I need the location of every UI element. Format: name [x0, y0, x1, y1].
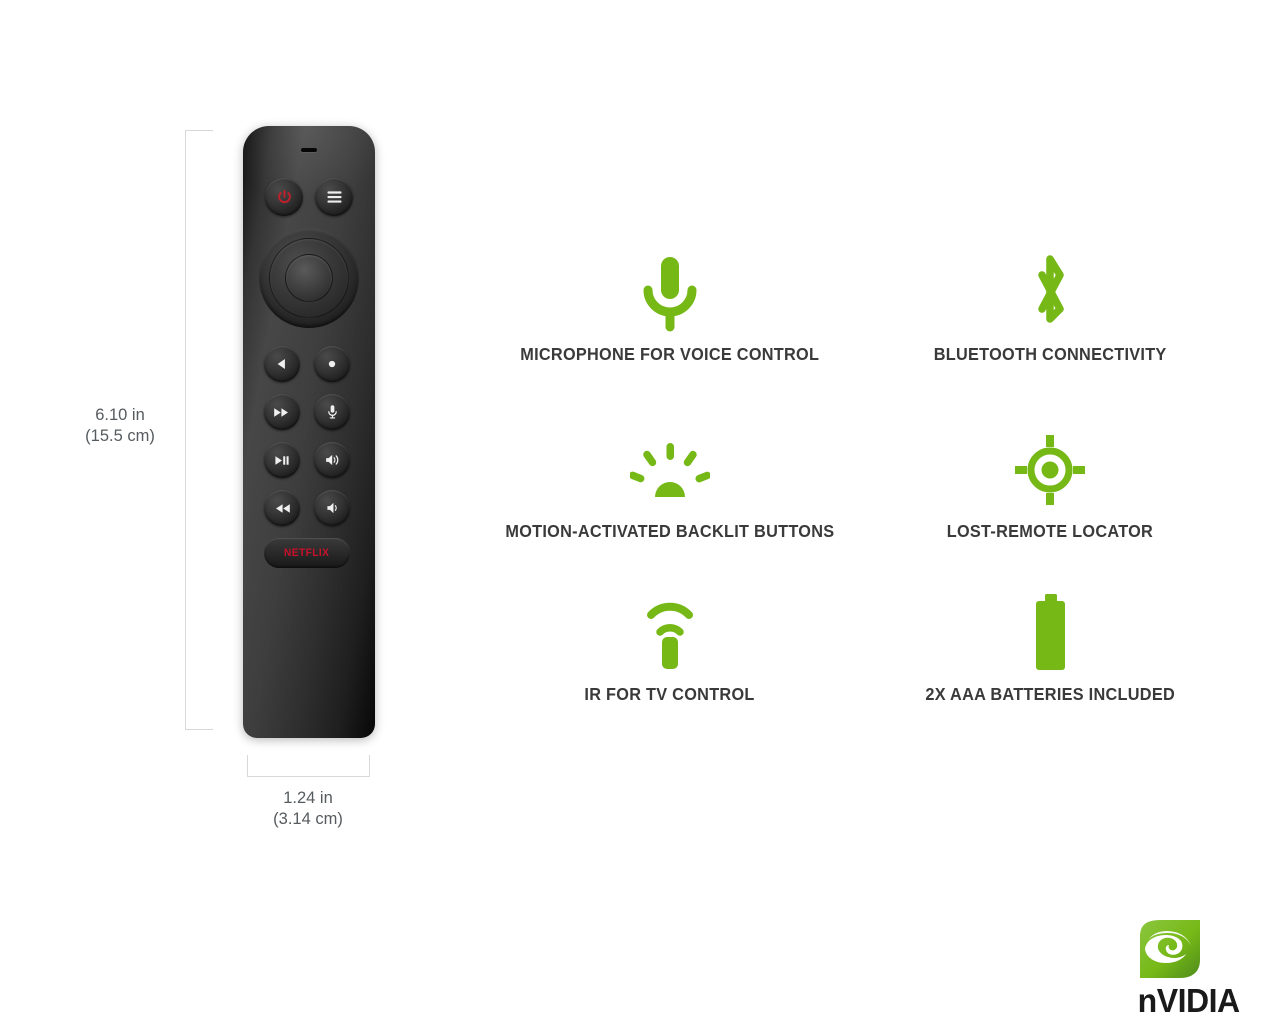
- rewind-icon: [273, 502, 291, 515]
- volume-up-icon: [324, 453, 341, 467]
- width-dimension-centimeters: (3.14 cm): [228, 809, 388, 830]
- feature-bluetooth-connectivity: BLUETOOTH CONNECTIVITY: [860, 250, 1240, 365]
- shield-tv-remote: NETFLIX: [243, 126, 375, 738]
- directional-pad[interactable]: [259, 228, 359, 328]
- feature-motion-activated-backlit-buttons: MOTION-ACTIVATED BACKLIT BUTTONS: [480, 427, 860, 542]
- feature-lost-remote-locator: LOST-REMOTE LOCATOR: [860, 427, 1240, 542]
- height-dimension-label: 6.10 in (15.5 cm): [60, 405, 180, 447]
- play-pause-button[interactable]: [264, 442, 300, 478]
- feature-label: 2X AAA BATTERIES INCLUDED: [925, 684, 1175, 705]
- height-dimension-inches: 6.10 in: [60, 405, 180, 426]
- feature-list: MICROPHONE FOR VOICE CONTROL BLUETOOTH C…: [480, 250, 1240, 705]
- back-triangle-icon: [275, 357, 289, 371]
- feature-row-2: MOTION-ACTIVATED BACKLIT BUTTONS LOST-RE…: [480, 427, 1240, 542]
- menu-button[interactable]: [315, 178, 353, 216]
- netflix-label: NETFLIX: [284, 547, 329, 559]
- fast-forward-button[interactable]: [264, 394, 300, 430]
- play-pause-icon: [273, 454, 291, 467]
- hamburger-menu-icon: [326, 190, 343, 204]
- feature-microphone-voice-control: MICROPHONE FOR VOICE CONTROL: [480, 250, 860, 365]
- width-dimension-bracket: [247, 755, 370, 777]
- feature-label: MOTION-ACTIVATED BACKLIT BUTTONS: [506, 521, 835, 542]
- nvidia-eye-logo: [1136, 918, 1204, 982]
- volume-up-button[interactable]: [314, 442, 350, 478]
- home-button[interactable]: [314, 346, 350, 382]
- volume-down-icon: [325, 501, 340, 515]
- target-locator-icon: [1015, 427, 1085, 513]
- feature-row-1: MICROPHONE FOR VOICE CONTROL BLUETOOTH C…: [480, 250, 1240, 365]
- infographic-page: 6.10 in (15.5 cm) 1.24 in (3.14 cm): [0, 0, 1280, 1024]
- width-dimension-label: 1.24 in (3.14 cm): [228, 788, 388, 830]
- nvidia-wordmark: nVIDIA: [1138, 984, 1245, 1017]
- feature-label: IR FOR TV CONTROL: [585, 684, 755, 705]
- ir-signal-icon: [640, 590, 700, 676]
- height-dimension-bracket: [185, 130, 213, 730]
- microphone-icon: [638, 250, 702, 336]
- feature-ir-tv-control: IR FOR TV CONTROL: [480, 590, 860, 705]
- feature-label: LOST-REMOTE LOCATOR: [947, 521, 1153, 542]
- height-dimension-centimeters: (15.5 cm): [60, 426, 180, 447]
- feature-label: BLUETOOTH CONNECTIVITY: [934, 344, 1167, 365]
- home-dot-icon: [325, 357, 339, 371]
- fast-forward-icon: [273, 406, 291, 419]
- power-icon: [276, 189, 293, 206]
- volume-down-button[interactable]: [314, 490, 350, 526]
- dpad-select-button[interactable]: [285, 254, 333, 302]
- microphone-slit: [301, 148, 317, 152]
- rewind-button[interactable]: [264, 490, 300, 526]
- width-dimension-inches: 1.24 in: [228, 788, 388, 809]
- feature-row-3: IR FOR TV CONTROL 2X AAA BATTERIES INCLU…: [480, 590, 1240, 705]
- backlit-buttons-icon: [630, 427, 710, 513]
- power-button[interactable]: [265, 178, 303, 216]
- netflix-button[interactable]: NETFLIX: [264, 538, 350, 568]
- microphone-button[interactable]: [314, 394, 350, 430]
- product-image-area: 6.10 in (15.5 cm) 1.24 in (3.14 cm): [0, 0, 470, 900]
- bluetooth-icon: [1022, 250, 1078, 336]
- back-button[interactable]: [264, 346, 300, 382]
- feature-label: MICROPHONE FOR VOICE CONTROL: [521, 344, 820, 365]
- nvidia-logo: nVIDIA: [1136, 918, 1246, 1017]
- battery-icon: [1028, 590, 1072, 676]
- feature-aaa-batteries-included: 2X AAA BATTERIES INCLUDED: [860, 590, 1240, 705]
- microphone-icon: [326, 404, 339, 420]
